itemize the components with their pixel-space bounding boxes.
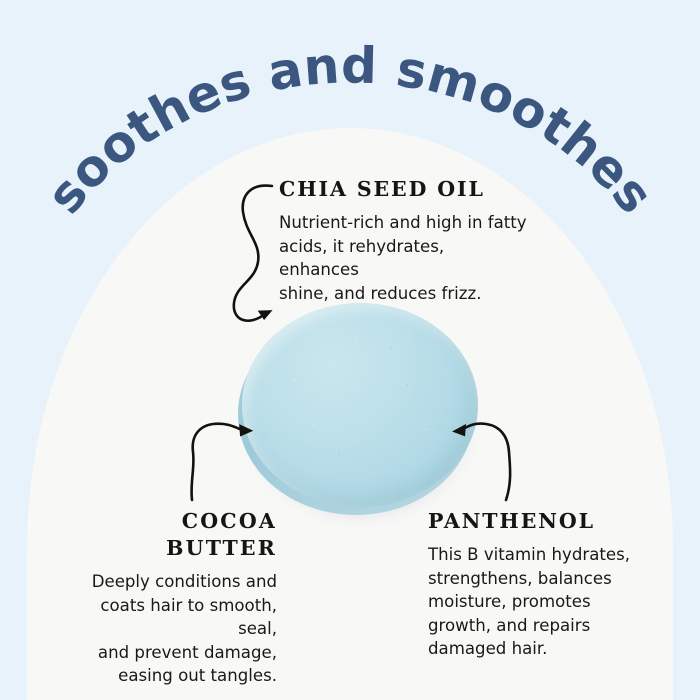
annotation-panthenol: PANTHENOL This B vitamin hydrates, stren… bbox=[428, 508, 643, 661]
disc-top-face bbox=[242, 303, 478, 507]
annotation-title: COCOA BUTTER bbox=[72, 508, 277, 562]
annotation-cocoa-butter: COCOA BUTTER Deeply conditions and coats… bbox=[72, 508, 277, 688]
annotation-title: CHIA SEED OIL bbox=[279, 176, 529, 203]
annotation-body: This B vitamin hydrates, strengthens, ba… bbox=[428, 543, 643, 661]
annotation-body: Nutrient-rich and high in fatty acids, i… bbox=[279, 211, 529, 305]
disc-texture bbox=[242, 303, 478, 507]
product-disc bbox=[236, 301, 480, 523]
annotation-title: PANTHENOL bbox=[428, 508, 643, 535]
annotation-chia-seed-oil: CHIA SEED OIL Nutrient-rich and high in … bbox=[279, 176, 529, 305]
infographic-canvas: soothes and smoothes CHIA SEED OIL Nutri… bbox=[0, 0, 700, 700]
annotation-body: Deeply conditions and coats hair to smoo… bbox=[72, 570, 277, 688]
